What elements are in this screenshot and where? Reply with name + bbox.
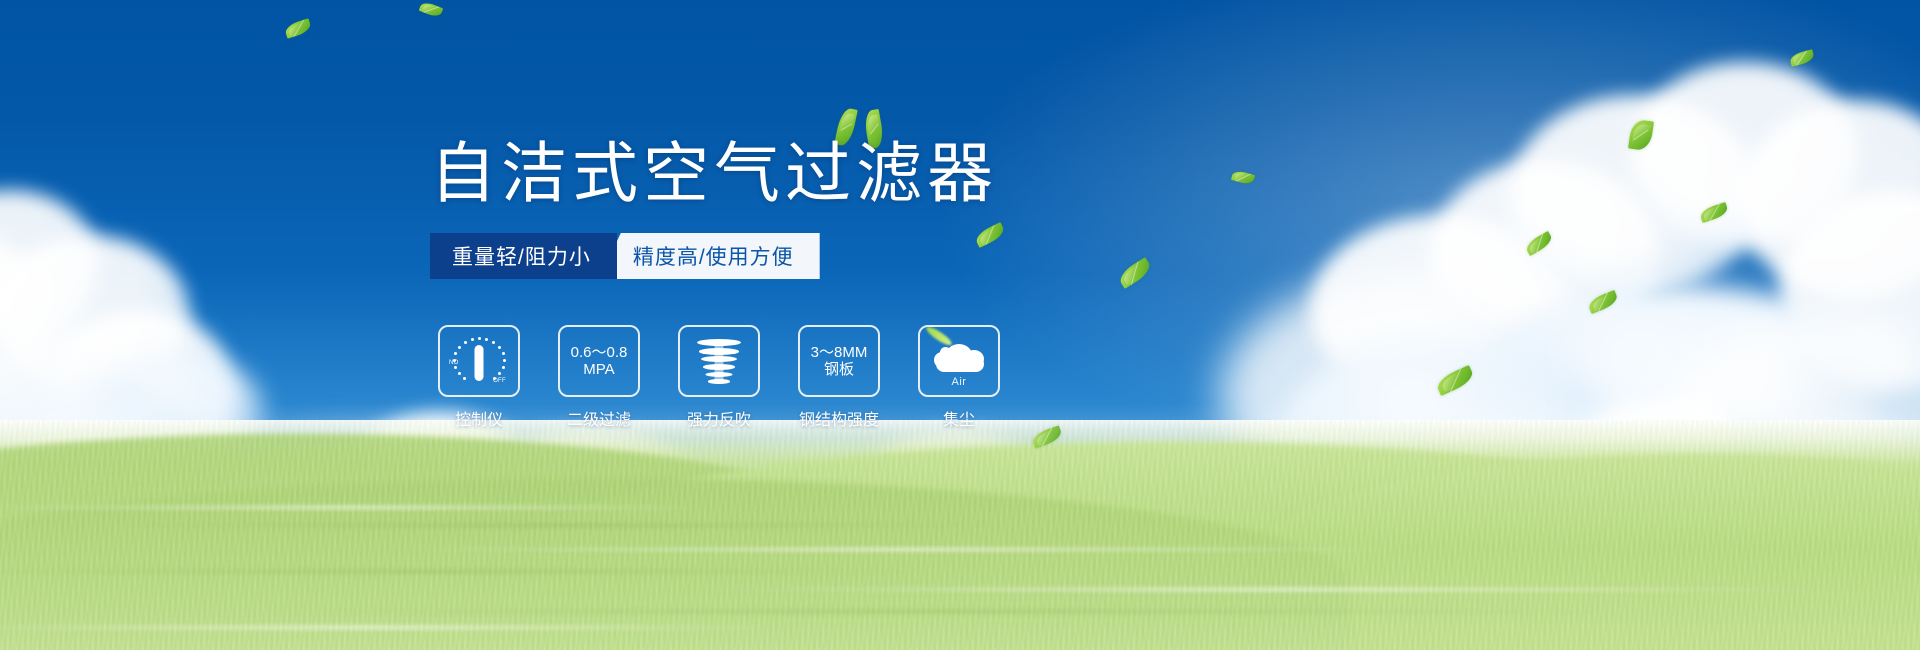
banner-content: 自洁式空气过滤器 重量轻/阻力小 精度高/使用方便 (0, 0, 1920, 650)
feature-caption: 控制仪 (455, 406, 503, 430)
hero-banner: 自洁式空气过滤器 重量轻/阻力小 精度高/使用方便 (0, 0, 1920, 650)
feature-icon-box: 0.6～0.8 MPA (558, 325, 640, 397)
feature-item-steel-strength: 3～8MM 钢板 钢结构强度 (798, 325, 880, 430)
steel-thickness-line1: 3～8MM (811, 344, 868, 361)
dial-on-label: NO (449, 360, 459, 366)
badge-primary: 重量轻/阻力小 (430, 233, 617, 279)
feature-list: NO OFF 控制仪 0.6～0.8 MPA 二级过滤 (438, 325, 1000, 430)
feature-icon-box: NO OFF (438, 325, 520, 397)
feature-caption: 钢结构强度 (799, 406, 879, 430)
dial-gauge-icon: NO OFF (450, 336, 508, 386)
air-label: Air (928, 376, 990, 388)
dial-off-label: OFF (493, 378, 506, 384)
tagline-badges: 重量轻/阻力小 精度高/使用方便 (430, 233, 820, 279)
feature-icon-box (678, 325, 760, 397)
pressure-value-line2: MPA (583, 361, 614, 378)
steel-thickness-line2: 钢板 (824, 361, 854, 378)
feature-icon-box: 3～8MM 钢板 (798, 325, 880, 397)
feature-item-strong-backblow: 强力反吹 (678, 325, 760, 430)
badge-secondary: 精度高/使用方便 (599, 233, 820, 279)
air-cloud-icon: Air (928, 336, 990, 386)
feature-caption: 二级过滤 (567, 406, 631, 430)
feature-icon-box: Air (918, 325, 1000, 397)
feature-item-dust-collection: Air 集尘 (918, 325, 1000, 430)
feature-item-control-instrument: NO OFF 控制仪 (438, 325, 520, 430)
filter-coil-icon (696, 337, 742, 385)
feature-caption: 强力反吹 (687, 406, 751, 430)
feature-item-secondary-filtration: 0.6～0.8 MPA 二级过滤 (558, 325, 640, 430)
page-title: 自洁式空气过滤器 (430, 140, 998, 206)
pressure-value-line1: 0.6～0.8 (571, 344, 628, 361)
feature-caption: 集尘 (943, 406, 975, 430)
